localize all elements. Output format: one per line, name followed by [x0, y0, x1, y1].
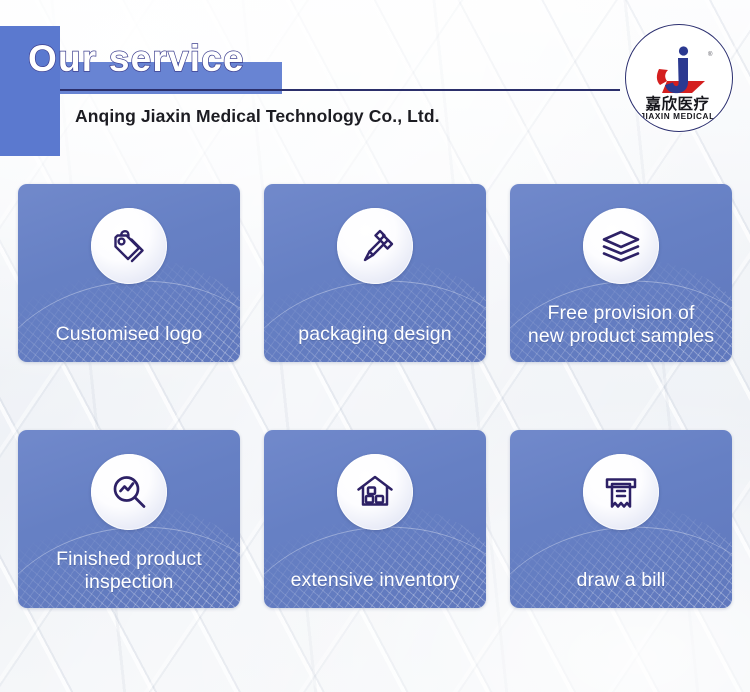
- icon-badge: [337, 208, 413, 284]
- card-label-line1: Finished product: [26, 548, 232, 571]
- service-card-free-samples[interactable]: Free provision of new product samples: [510, 184, 732, 362]
- card-label-line2: new product samples: [518, 325, 724, 348]
- card-wave-edge: [264, 270, 486, 362]
- service-card-customised-logo[interactable]: Customised logo: [18, 184, 240, 362]
- price-tags-icon: [107, 224, 151, 268]
- card-wave-edge: [18, 270, 240, 362]
- card-wave-edge: [510, 516, 732, 608]
- card-label: Customised logo: [26, 323, 232, 346]
- card-label: packaging design: [272, 323, 478, 346]
- page-title: Our service: [28, 38, 245, 80]
- company-name: Anqing Jiaxin Medical Technology Co., Lt…: [75, 106, 440, 127]
- page-header: Our service Anqing Jiaxin Medical Techno…: [0, 0, 750, 170]
- card-label: Finished product inspection: [26, 548, 232, 594]
- icon-badge: [91, 208, 167, 284]
- company-logo: ® 嘉欣医疗 JIAXIN MEDICAL: [625, 24, 733, 132]
- service-card-finished-product-inspection[interactable]: Finished product inspection: [18, 430, 240, 608]
- card-label: extensive inventory: [272, 569, 478, 592]
- card-label: Free provision of new product samples: [518, 302, 724, 348]
- svg-text:®: ®: [708, 51, 713, 58]
- magnifier-chart-icon: [107, 470, 151, 514]
- service-card-packaging-design[interactable]: packaging design: [264, 184, 486, 362]
- svg-text:JIAXIN MEDICAL: JIAXIN MEDICAL: [640, 112, 714, 121]
- service-card-grid: Customised logo packag: [18, 184, 732, 608]
- service-card-draw-a-bill[interactable]: draw a bill: [510, 430, 732, 608]
- icon-badge: [91, 454, 167, 530]
- icon-badge: [583, 454, 659, 530]
- service-page: Our service Anqing Jiaxin Medical Techno…: [0, 0, 750, 692]
- pen-design-icon: [353, 224, 397, 268]
- card-label-line1: Free provision of: [518, 302, 724, 325]
- svg-text:嘉欣医疗: 嘉欣医疗: [644, 94, 709, 113]
- icon-badge: [583, 208, 659, 284]
- card-label-line2: inspection: [26, 571, 232, 594]
- service-card-extensive-inventory[interactable]: extensive inventory: [264, 430, 486, 608]
- card-label: draw a bill: [518, 569, 724, 592]
- jiaxin-medical-logo-icon: ® 嘉欣医疗 JIAXIN MEDICAL: [626, 25, 729, 128]
- icon-badge: [337, 454, 413, 530]
- warehouse-boxes-icon: [353, 470, 397, 514]
- layers-stack-icon: [599, 224, 643, 268]
- card-wave-edge: [264, 516, 486, 608]
- invoice-receipt-icon: [599, 470, 643, 514]
- header-divider-rule: [60, 89, 620, 91]
